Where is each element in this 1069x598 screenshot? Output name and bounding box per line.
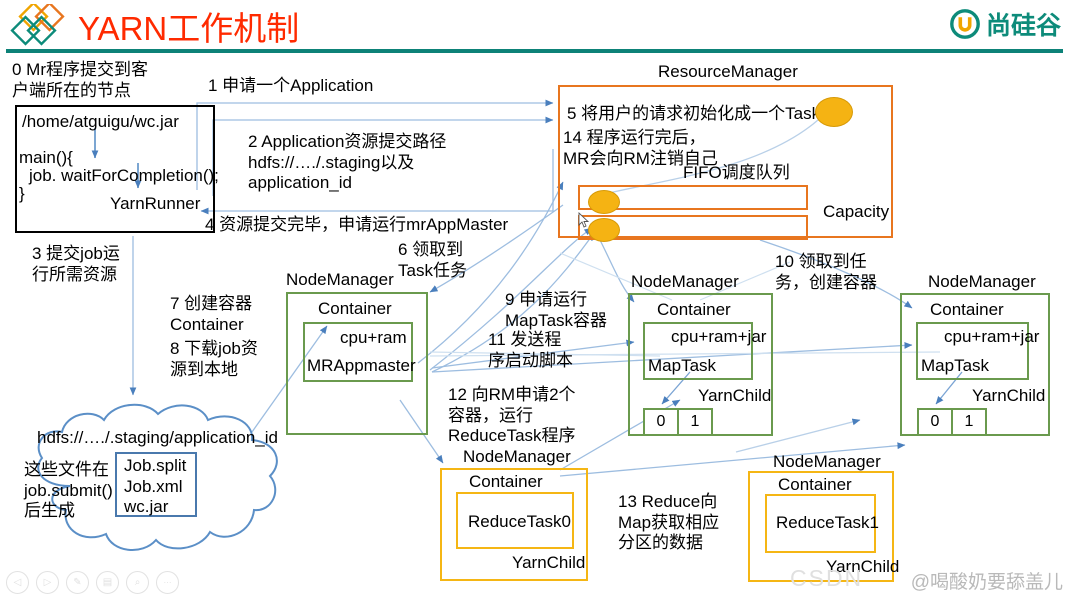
hdfs-note: 这些文件在 job.submit() 后生成 <box>24 460 113 522</box>
container-maptask1-title: Container <box>657 300 731 320</box>
appmaster-name: MRAppmaster <box>307 356 416 377</box>
container-reduce1-title: Container <box>778 475 852 495</box>
maptask2-resources: cpu+ram+jar <box>944 327 1039 348</box>
container-appmaster-title: Container <box>318 299 392 319</box>
prev-button[interactable]: ◁ <box>6 571 29 594</box>
reduce0-name: ReduceTask0 <box>468 512 571 533</box>
zoom-search-button[interactable]: ⌕ <box>126 571 149 594</box>
step-11-label: 11 发送程 序启动脚本 <box>488 330 573 371</box>
step-4-label: 4 资源提交完毕，申请运行mrAppMaster <box>205 215 508 236</box>
edit-pencil-button[interactable]: ✎ <box>66 571 89 594</box>
maptask1-resources: cpu+ram+jar <box>671 327 766 348</box>
diamonds-logo-icon <box>10 4 70 48</box>
nodemanager-appmaster-title: NodeManager <box>286 270 394 290</box>
maptask2-cell-0: 0 <box>917 408 953 436</box>
mouse-cursor-icon <box>578 212 590 230</box>
nodemanager-maptask2-title: NodeManager <box>928 272 1036 292</box>
watermark-site: CSDN <box>790 565 863 592</box>
step-2-label: 2 Application资源提交路径 hdfs://…./.staging以及… <box>248 132 446 194</box>
fifo-queue-label: FIFO调度队列 <box>683 163 790 184</box>
client-code-line-3: } <box>19 184 25 205</box>
maptask2-name: MapTask <box>921 356 989 377</box>
maptask1-yarnchild-label: YarnChild <box>698 386 771 407</box>
capacity-label: Capacity <box>823 202 889 223</box>
header-divider <box>6 49 1063 53</box>
atguigu-u-icon <box>950 9 980 39</box>
page-header: YARN工作机制 尚硅谷 <box>0 0 1069 52</box>
nodemanager-reduce0-title: NodeManager <box>463 447 571 467</box>
reduce1-name: ReduceTask1 <box>776 513 879 534</box>
step-12-label: 12 向RM申请2个 容器，运行 ReduceTask程序 <box>448 385 576 447</box>
page-title: YARN工作机制 <box>78 2 299 50</box>
client-jar-path: /home/atguigu/wc.jar <box>22 112 179 133</box>
watermark-author: @喝酸奶要舔盖儿 <box>911 567 1063 594</box>
maptask2-partition-cells: 0 1 <box>919 408 987 436</box>
diagram-canvas: YARN工作机制 尚硅谷 <box>0 0 1069 598</box>
maptask1-name: MapTask <box>648 356 716 377</box>
pencil-icon: ✎ <box>73 577 81 588</box>
rm-task-ellipse <box>815 97 853 127</box>
step-5-label: 5 将用户的请求初始化成一个Task <box>567 104 820 125</box>
step-9-label: 9 申请运行 MapTask容器 <box>505 290 607 331</box>
queue-task-ellipse-2 <box>588 218 620 242</box>
nodemanager-maptask1-title: NodeManager <box>631 272 739 292</box>
maptask1-cell-1: 1 <box>677 408 713 436</box>
maptask1-partition-cells: 0 1 <box>645 408 713 436</box>
next-button[interactable]: ▷ <box>36 571 59 594</box>
appmaster-resources: cpu+ram <box>340 328 407 349</box>
prev-icon: ◁ <box>14 577 22 588</box>
maptask2-cell-1: 1 <box>951 408 987 436</box>
brand-logo: 尚硅谷 <box>950 6 1061 42</box>
hdfs-staging-path: hdfs://…./.staging/application_id <box>37 428 278 449</box>
bottom-toolbar: ◁ ▷ ✎ ▤ ⌕ ··· <box>6 571 179 594</box>
maptask1-cell-0: 0 <box>643 408 679 436</box>
reduce0-yarnchild-label: YarnChild <box>512 553 585 574</box>
step-1-label: 1 申请一个Application <box>208 76 373 97</box>
layout-icon: ▤ <box>103 577 112 588</box>
more-icon: ··· <box>164 578 172 587</box>
yarn-runner-label: YarnRunner <box>110 194 200 215</box>
step-6-label: 6 领取到 Task任务 <box>398 240 467 281</box>
maptask2-yarnchild-label: YarnChild <box>972 386 1045 407</box>
brand-text: 尚硅谷 <box>986 6 1061 42</box>
layout-button[interactable]: ▤ <box>96 571 119 594</box>
search-icon: ⌕ <box>135 577 141 588</box>
container-maptask2-title: Container <box>930 300 1004 320</box>
more-options-button[interactable]: ··· <box>156 571 179 594</box>
next-icon: ▷ <box>44 577 52 588</box>
queue-task-ellipse-1 <box>588 190 620 214</box>
step-10-label: 10 领取到任 务，创建容器 <box>775 252 877 293</box>
step-3-label: 3 提交job运 行所需资源 <box>32 244 120 285</box>
step-7-label: 7 创建容器 Container <box>170 294 252 335</box>
hdfs-files-list: Job.split Job.xml wc.jar <box>124 456 186 518</box>
step-0-label: 0 Mr程序提交到客 户端所在的节点 <box>12 60 148 101</box>
container-reduce0-title: Container <box>469 472 543 492</box>
step-8-label: 8 下载job资 源到本地 <box>170 339 258 380</box>
step-13-label: 13 Reduce向 Map获取相应 分区的数据 <box>618 492 719 554</box>
client-code-line-2: job. waitForCompletion(); <box>29 166 219 187</box>
resource-manager-title: ResourceManager <box>658 62 798 82</box>
nodemanager-reduce1-title: NodeManager <box>773 452 881 472</box>
